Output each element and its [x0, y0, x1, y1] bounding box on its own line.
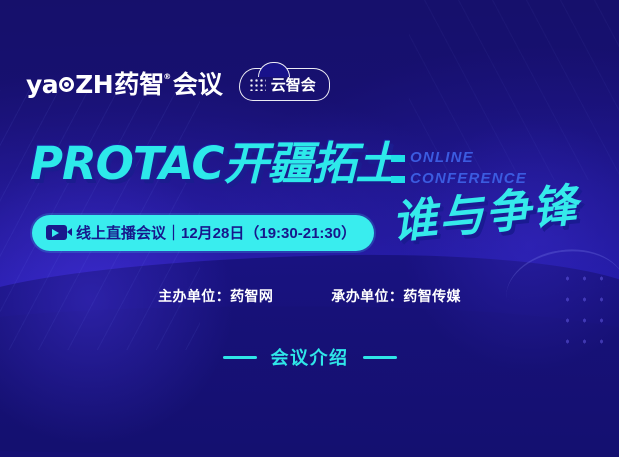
logo-latin-suffix: ZH: [75, 72, 113, 97]
logo-latin-prefix: ya: [26, 72, 58, 97]
video-camera-icon: [46, 225, 67, 240]
section-dash-right-icon: [363, 356, 397, 359]
background-wave-lowest: [0, 299, 619, 457]
dot-matrix-icon: [249, 78, 266, 91]
yaozhi-logo: ya ZH 药智 ® 会议: [26, 72, 223, 97]
headline-subtitle: ONLINE CONFERENCE: [410, 148, 527, 189]
section-title-label: 会议介绍: [271, 344, 349, 370]
section-dash-left-icon: [223, 356, 257, 359]
co-organizer-organization: 承办单位：药智传媒: [331, 286, 461, 306]
brand-logo-row: ya ZH 药智 ® 会议 云智会: [26, 68, 330, 101]
live-session-badge[interactable]: 线上直播会议｜12月28日（19:30-21:30）: [32, 215, 374, 251]
logo-cn-yaozhi: 药智: [114, 72, 164, 97]
calligraphy-slogan: 谁与争锋: [390, 182, 581, 245]
host-organization: 主办单位：药智网: [158, 286, 273, 306]
organizer-row: 主办单位：药智网 承办单位：药智传媒: [0, 286, 619, 306]
tick-mark-icon-1: [391, 155, 405, 162]
logo-registered-mark: ®: [163, 73, 171, 81]
logo-cn-huiyi: 会议: [173, 72, 223, 97]
conference-poster: ya ZH 药智 ® 会议 云智会 PROTAC开疆拓土 ONLINE CONF…: [0, 0, 619, 457]
cloud-badge-label: 云智会: [271, 74, 316, 95]
subtitle-line-one: ONLINE: [410, 148, 527, 169]
target-o-icon: [59, 77, 74, 92]
cloud-conference-badge: 云智会: [239, 68, 330, 101]
live-session-text: 线上直播会议｜12月28日（19:30-21:30）: [76, 222, 356, 243]
section-heading: 会议介绍: [0, 344, 619, 370]
tick-mark-icon-2: [391, 176, 405, 183]
headline-block: PROTAC开疆拓土: [30, 141, 400, 186]
page-title: PROTAC开疆拓土: [30, 141, 400, 186]
